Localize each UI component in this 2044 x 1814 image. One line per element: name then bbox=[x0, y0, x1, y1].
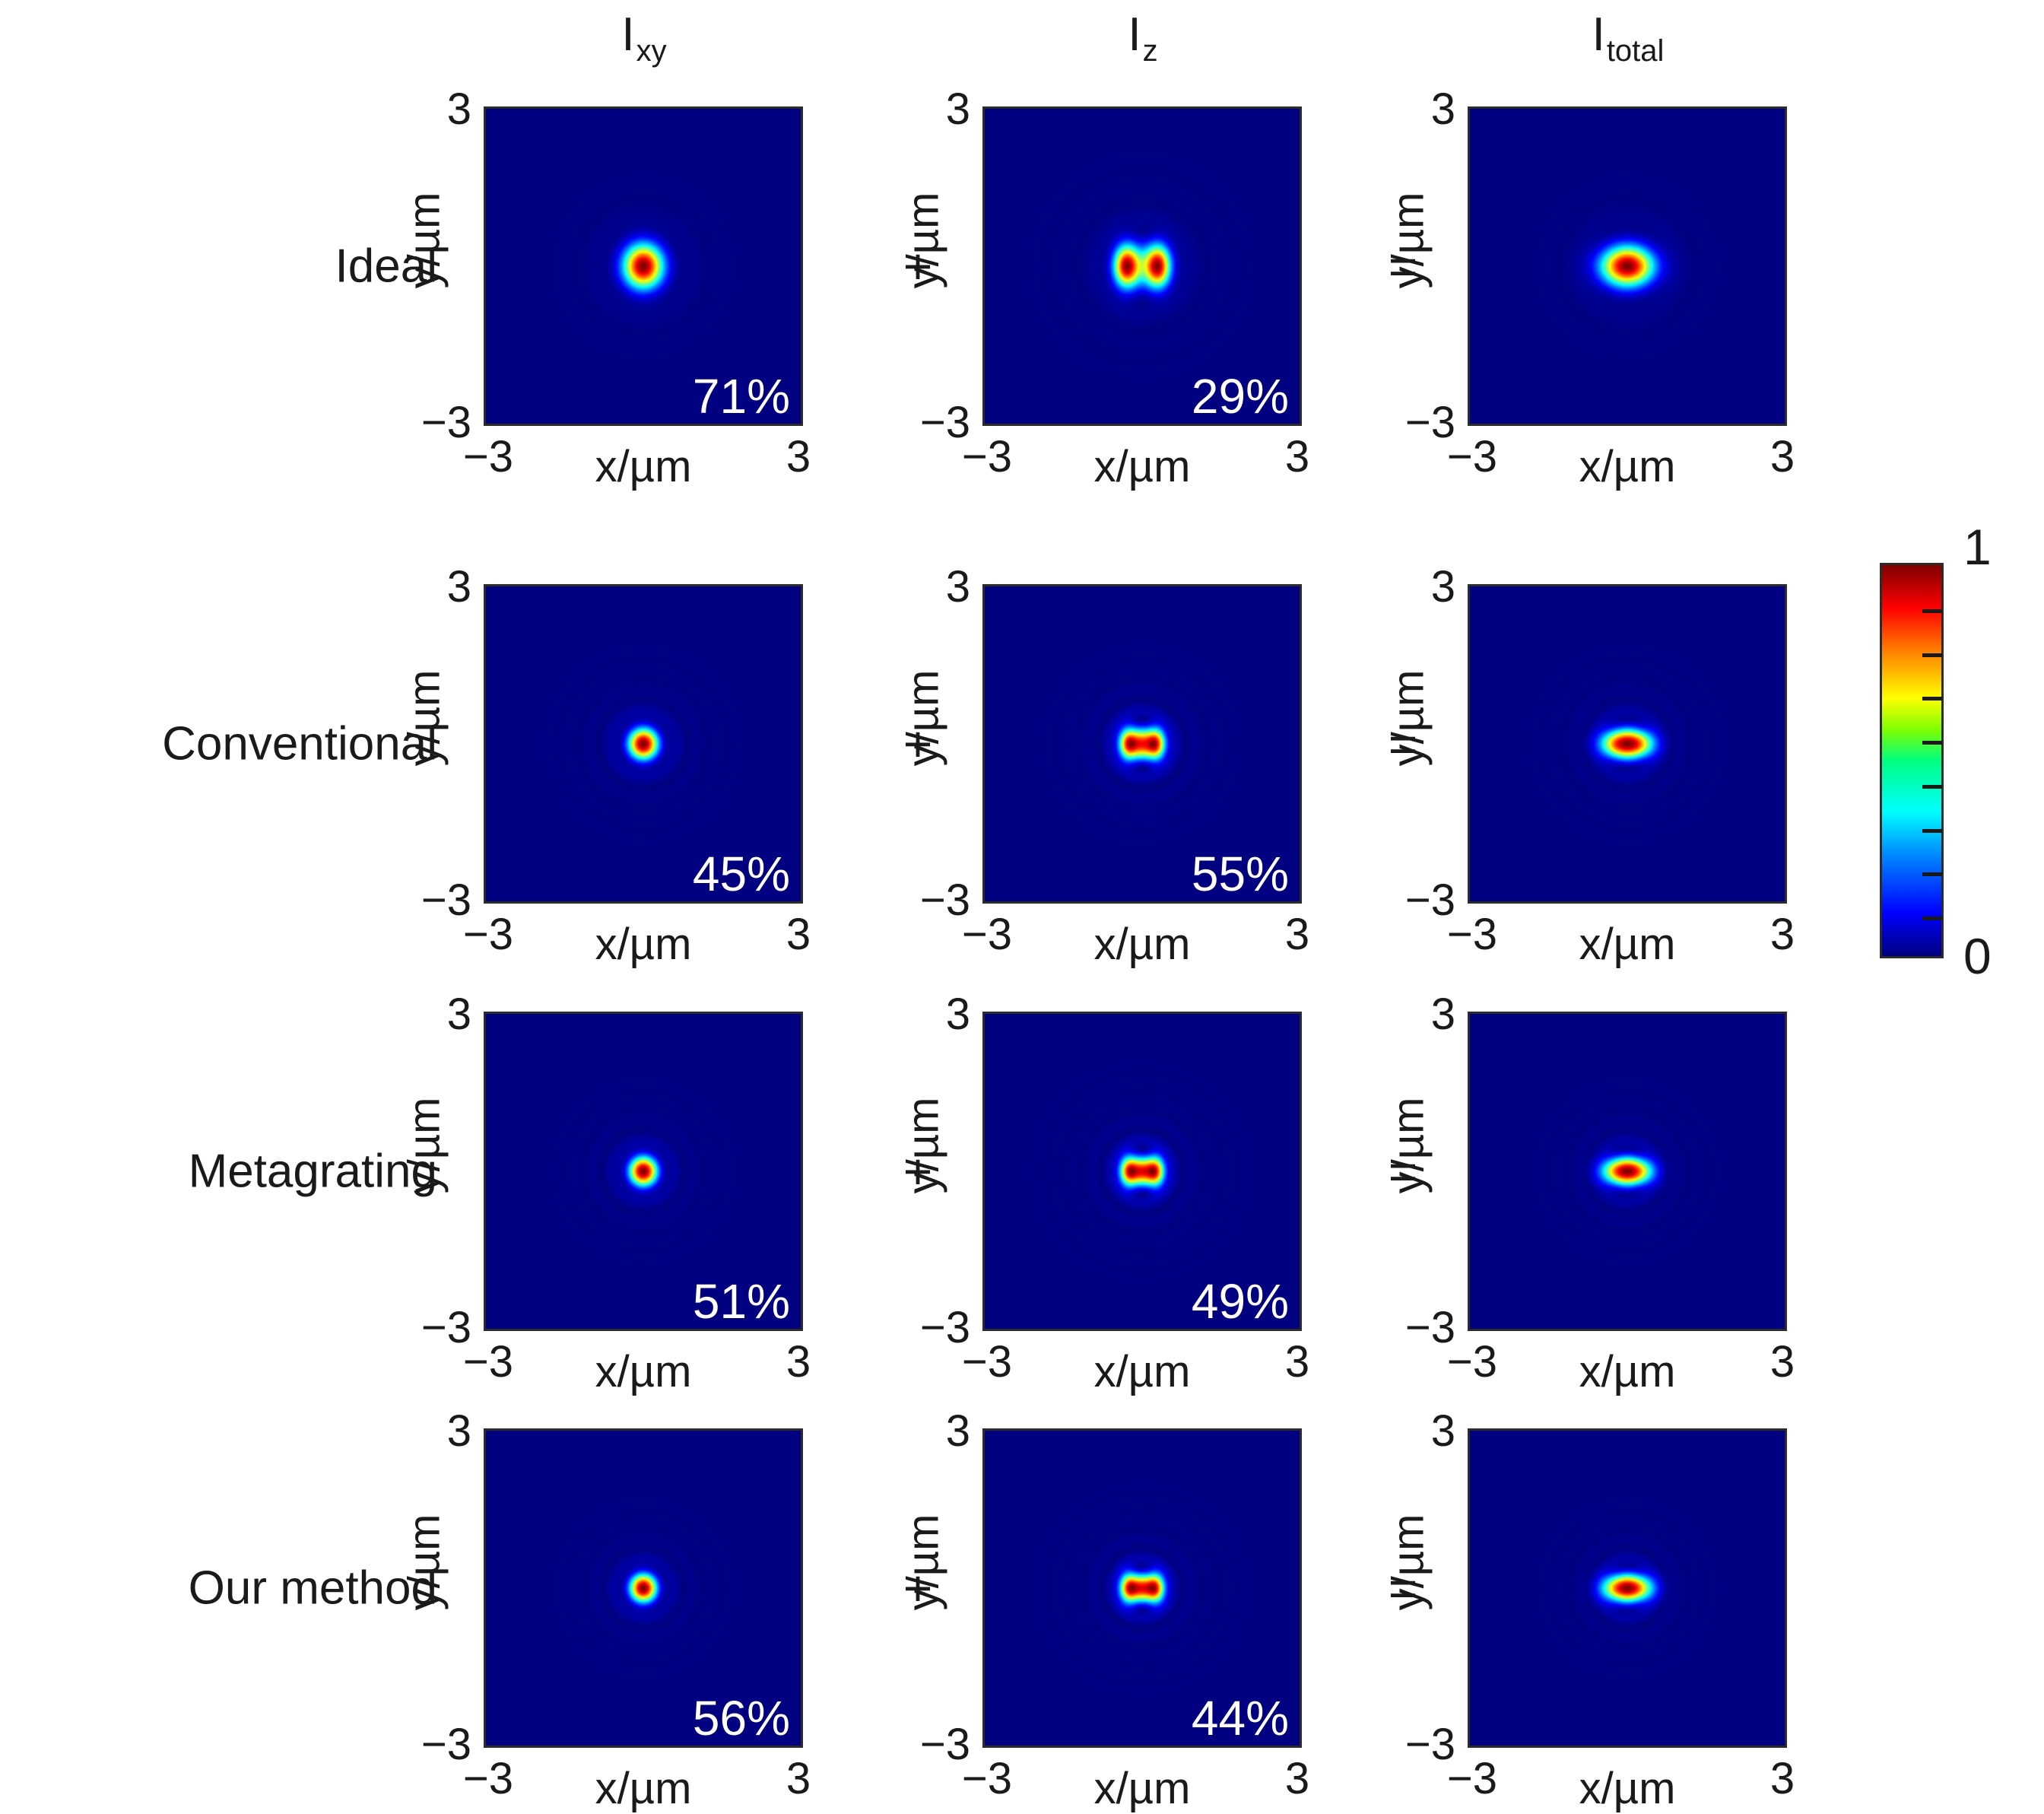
x-axis-max-tick: 3 bbox=[1770, 1340, 1795, 1384]
x-axis-max-tick: 3 bbox=[1770, 435, 1795, 479]
colorbar-max-label: 1 bbox=[1963, 522, 1992, 572]
x-axis-max-tick: 3 bbox=[1770, 1757, 1795, 1801]
column-title-main: I bbox=[1592, 8, 1605, 61]
efficiency-percent-label: 71% bbox=[693, 372, 790, 421]
efficiency-percent-label: 45% bbox=[693, 850, 790, 898]
x-axis-label: x/µm bbox=[1094, 919, 1191, 970]
x-axis-min-tick: −3 bbox=[1447, 435, 1497, 479]
x-axis-label: x/µm bbox=[1579, 1346, 1676, 1397]
heatmap-panel-metagrating-iz: 49% bbox=[982, 1012, 1302, 1331]
x-axis-label: x/µm bbox=[595, 1763, 692, 1814]
colorbar-tick bbox=[1922, 917, 1942, 920]
colorbar-tick bbox=[1922, 829, 1942, 833]
colorbar-tick bbox=[1922, 609, 1942, 613]
efficiency-percent-label: 51% bbox=[693, 1277, 790, 1326]
x-axis-min-tick: −3 bbox=[463, 913, 513, 957]
efficiency-percent-label: 49% bbox=[1192, 1277, 1289, 1326]
x-axis-min-tick: −3 bbox=[1447, 1340, 1497, 1384]
colorbar-min-label: 0 bbox=[1963, 931, 1992, 981]
heatmap-panel-metagrating-ixy: 51% bbox=[484, 1012, 803, 1331]
y-axis-label: y/µm bbox=[399, 1514, 450, 1611]
colorbar bbox=[1880, 563, 1944, 958]
x-axis-max-tick: 3 bbox=[786, 435, 811, 479]
heatmap-panel-ideal-itotal bbox=[1468, 106, 1787, 426]
y-axis-max-tick: 3 bbox=[447, 1409, 471, 1453]
x-axis-min-tick: −3 bbox=[1447, 1757, 1497, 1801]
y-axis-label: y/µm bbox=[1383, 1514, 1434, 1611]
x-axis-min-tick: −3 bbox=[962, 1757, 1012, 1801]
y-axis-max-tick: 3 bbox=[1431, 1409, 1455, 1453]
column-title-main: I bbox=[1128, 8, 1141, 61]
y-axis-label: y/µm bbox=[898, 670, 949, 767]
x-axis-min-tick: −3 bbox=[463, 1757, 513, 1801]
y-axis-max-tick: 3 bbox=[1431, 565, 1455, 609]
row-label-conventional: Conventional bbox=[162, 717, 437, 771]
y-axis-max-tick: 3 bbox=[946, 993, 970, 1037]
heatmap-panel-ourmethod-ixy: 56% bbox=[484, 1428, 803, 1748]
heatmap-panel-conventional-iz: 55% bbox=[982, 584, 1302, 904]
x-axis-min-tick: −3 bbox=[962, 435, 1012, 479]
heatmap-canvas bbox=[1470, 586, 1785, 901]
colorbar-tick bbox=[1922, 872, 1942, 876]
efficiency-percent-label: 29% bbox=[1192, 372, 1289, 421]
heatmap-panel-ideal-ixy: 71% bbox=[484, 106, 803, 426]
x-axis-label: x/µm bbox=[595, 1346, 692, 1397]
colorbar-gradient bbox=[1880, 563, 1944, 958]
y-axis-label: y/µm bbox=[399, 1098, 450, 1194]
colorbar-tick bbox=[1922, 653, 1942, 657]
y-axis-max-tick: 3 bbox=[447, 565, 471, 609]
heatmap-canvas bbox=[1470, 1014, 1785, 1329]
x-axis-max-tick: 3 bbox=[1285, 1340, 1309, 1384]
y-axis-label: y/µm bbox=[898, 192, 949, 289]
x-axis-min-tick: −3 bbox=[463, 1340, 513, 1384]
x-axis-label: x/µm bbox=[1094, 1763, 1191, 1814]
x-axis-min-tick: −3 bbox=[962, 913, 1012, 957]
heatmap-panel-ourmethod-iz: 44% bbox=[982, 1428, 1302, 1748]
y-axis-label: y/µm bbox=[399, 670, 450, 767]
y-axis-max-tick: 3 bbox=[1431, 993, 1455, 1037]
colorbar-tick bbox=[1922, 741, 1942, 745]
colorbar-tick bbox=[1922, 697, 1942, 701]
x-axis-max-tick: 3 bbox=[1285, 1757, 1309, 1801]
efficiency-percent-label: 44% bbox=[1192, 1694, 1289, 1743]
column-title-sub: total bbox=[1607, 34, 1665, 68]
y-axis-max-tick: 3 bbox=[447, 993, 471, 1037]
x-axis-label: x/µm bbox=[595, 919, 692, 970]
x-axis-label: x/µm bbox=[1579, 441, 1676, 492]
x-axis-max-tick: 3 bbox=[1770, 913, 1795, 957]
x-axis-min-tick: −3 bbox=[962, 1340, 1012, 1384]
y-axis-label: y/µm bbox=[1383, 670, 1434, 767]
y-axis-max-tick: 3 bbox=[946, 1409, 970, 1453]
heatmap-panel-metagrating-itotal bbox=[1468, 1012, 1787, 1331]
x-axis-min-tick: −3 bbox=[463, 435, 513, 479]
x-axis-max-tick: 3 bbox=[786, 1340, 811, 1384]
column-title-ixy: Ixy bbox=[621, 8, 665, 62]
efficiency-percent-label: 56% bbox=[693, 1694, 790, 1743]
x-axis-max-tick: 3 bbox=[786, 1757, 811, 1801]
y-axis-label: y/µm bbox=[898, 1514, 949, 1611]
heatmap-panel-ideal-iz: 29% bbox=[982, 106, 1302, 426]
y-axis-label: y/µm bbox=[898, 1098, 949, 1194]
heatmap-canvas bbox=[1470, 109, 1785, 424]
x-axis-label: x/µm bbox=[1579, 919, 1676, 970]
x-axis-max-tick: 3 bbox=[786, 913, 811, 957]
y-axis-max-tick: 3 bbox=[946, 565, 970, 609]
y-axis-label: y/µm bbox=[399, 192, 450, 289]
figure-root: IxyIzItotalIdeal71%3−3y/µm−33x/µm+29%3−3… bbox=[0, 0, 2044, 1749]
column-title-main: I bbox=[621, 8, 634, 61]
y-axis-max-tick: 3 bbox=[946, 87, 970, 132]
column-title-sub: z bbox=[1143, 34, 1158, 68]
heatmap-panel-conventional-itotal bbox=[1468, 584, 1787, 904]
efficiency-percent-label: 55% bbox=[1192, 850, 1289, 898]
y-axis-max-tick: 3 bbox=[447, 87, 471, 132]
column-title-itotal: Itotal bbox=[1592, 8, 1663, 62]
y-axis-label: y/µm bbox=[1383, 1098, 1434, 1194]
column-title-sub: xy bbox=[636, 34, 667, 68]
x-axis-label: x/µm bbox=[1094, 441, 1191, 492]
heatmap-canvas bbox=[1470, 1431, 1785, 1746]
x-axis-min-tick: −3 bbox=[1447, 913, 1497, 957]
x-axis-label: x/µm bbox=[1579, 1763, 1676, 1814]
x-axis-max-tick: 3 bbox=[1285, 435, 1309, 479]
x-axis-label: x/µm bbox=[1094, 1346, 1191, 1397]
colorbar-tick bbox=[1922, 785, 1942, 789]
heatmap-panel-conventional-ixy: 45% bbox=[484, 584, 803, 904]
column-title-iz: Iz bbox=[1128, 8, 1156, 62]
x-axis-max-tick: 3 bbox=[1285, 913, 1309, 957]
x-axis-label: x/µm bbox=[595, 441, 692, 492]
heatmap-panel-ourmethod-itotal bbox=[1468, 1428, 1787, 1748]
y-axis-max-tick: 3 bbox=[1431, 87, 1455, 132]
y-axis-label: y/µm bbox=[1383, 192, 1434, 289]
